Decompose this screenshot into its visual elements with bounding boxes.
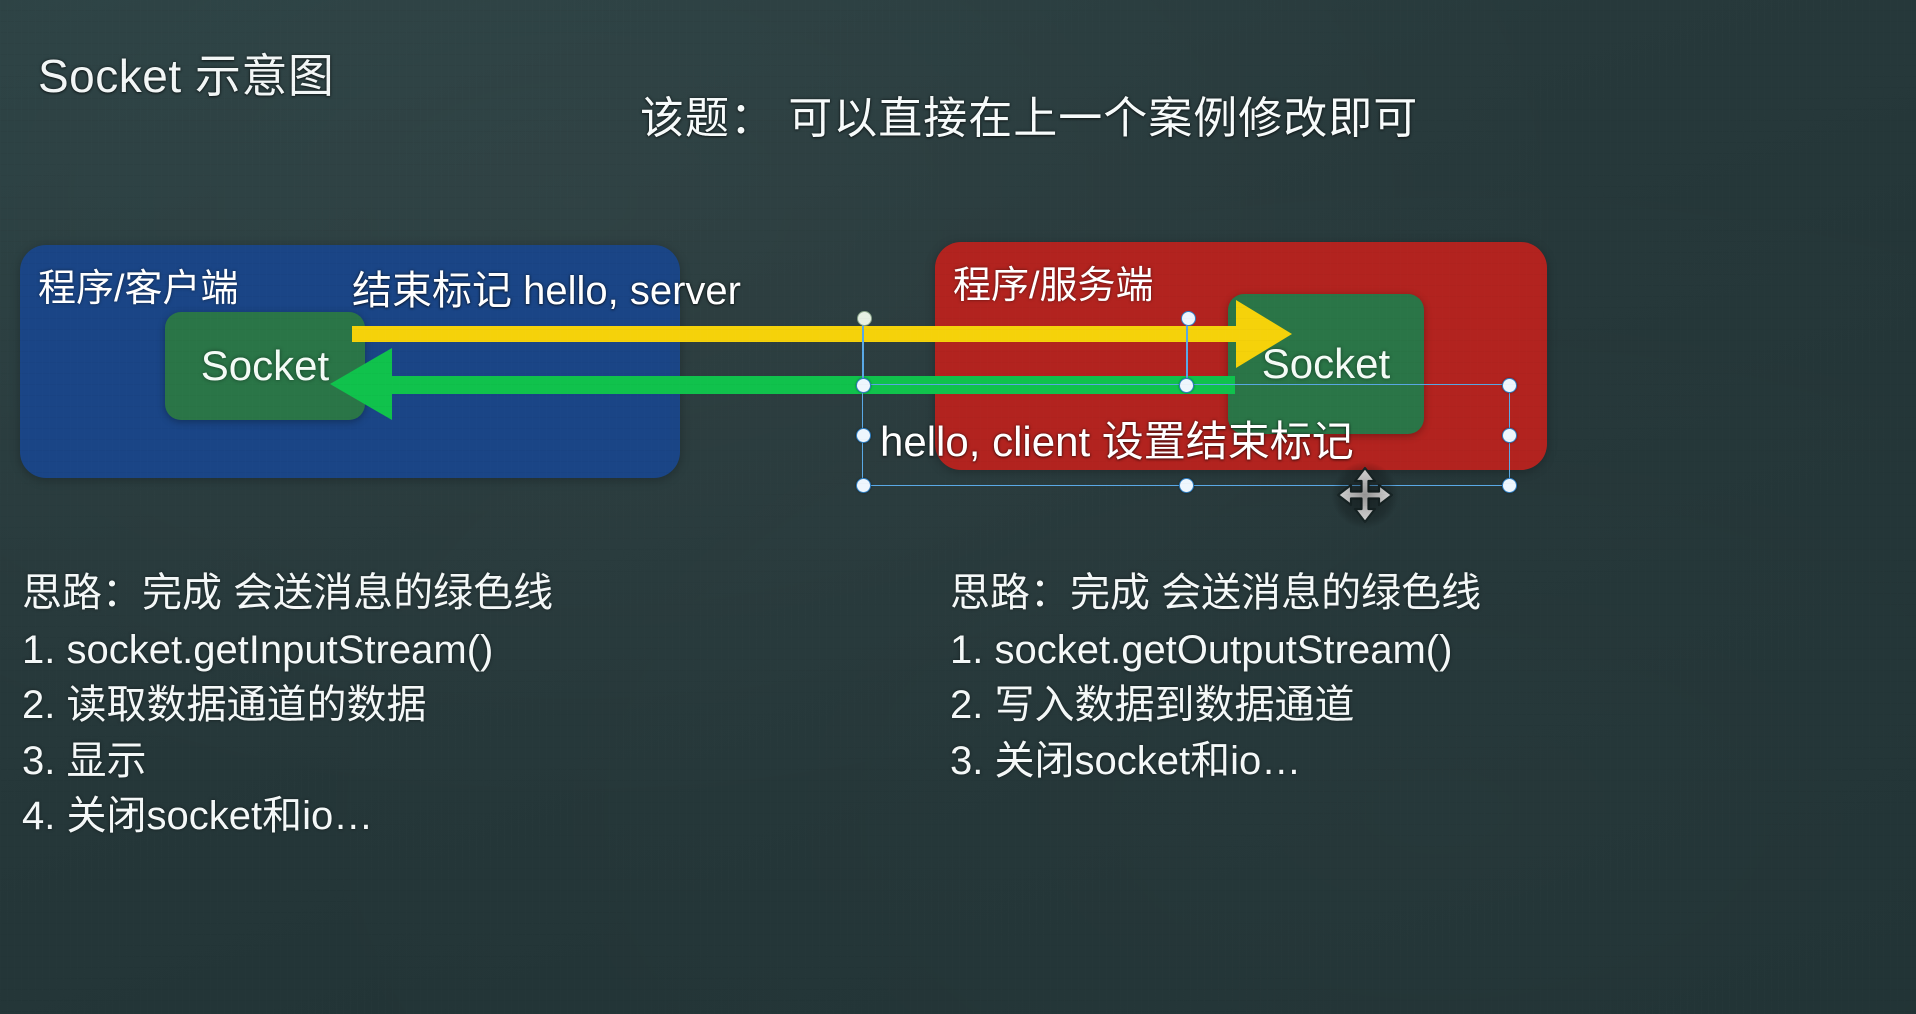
server-panel-label: 程序/服务端 — [953, 254, 1154, 309]
server-notes-step-1: 1. socket.getOutputStream() — [950, 623, 1481, 678]
client-notes: 思路：完成 会送消息的绿色线 1. socket.getInputStream(… — [22, 566, 553, 844]
selection-connector-dot-right[interactable] — [1181, 311, 1196, 326]
cursor-shadow — [1332, 462, 1398, 528]
resize-handle-middle-left[interactable] — [856, 428, 871, 443]
server-notes-heading: 思路：完成 会送消息的绿色线 — [950, 566, 1481, 621]
client-notes-step-3: 3. 显示 — [22, 734, 553, 789]
client-notes-step-1: 1. socket.getInputStream() — [22, 623, 553, 678]
server-notes-step-3: 3. 关闭socket和io… — [950, 734, 1481, 789]
server-notes-step-2: 2. 写入数据到数据通道 — [950, 678, 1481, 733]
server-notes: 思路：完成 会送消息的绿色线 1. socket.getOutputStream… — [950, 566, 1481, 789]
server-to-client-arrow-shaft[interactable] — [390, 376, 1235, 394]
client-notes-heading: 思路：完成 会送消息的绿色线 — [22, 566, 553, 621]
resize-handle-bottom-left[interactable] — [856, 478, 871, 493]
client-to-server-arrow-label: 结束标记 hello, server — [352, 258, 741, 316]
server-to-client-arrow-head-icon — [330, 348, 392, 420]
resize-handle-bottom-center[interactable] — [1179, 478, 1194, 493]
client-notes-step-4: 4. 关闭socket和io… — [22, 789, 553, 844]
slide-canvas: Socket 示意图 该题： 可以直接在上一个案例修改即可 程序/客户端 程序/… — [0, 0, 1916, 1014]
server-to-client-arrow-label: hello, client 设置结束标记 — [880, 408, 1354, 469]
client-panel-label: 程序/客户端 — [38, 257, 239, 312]
page-title: Socket 示意图 — [38, 40, 334, 106]
slide-subtitle: 该题： 可以直接在上一个案例修改即可 — [640, 82, 1418, 146]
move-cursor-icon — [1332, 462, 1398, 528]
resize-handle-bottom-right[interactable] — [1502, 478, 1517, 493]
selection-connector-right — [1186, 316, 1188, 386]
client-notes-step-2: 2. 读取数据通道的数据 — [22, 678, 553, 733]
selection-connector-dot-left[interactable] — [857, 311, 872, 326]
client-to-server-arrow-head-icon — [1236, 300, 1292, 368]
client-to-server-arrow-shaft[interactable] — [352, 326, 1252, 342]
selection-connector-left — [862, 316, 864, 386]
